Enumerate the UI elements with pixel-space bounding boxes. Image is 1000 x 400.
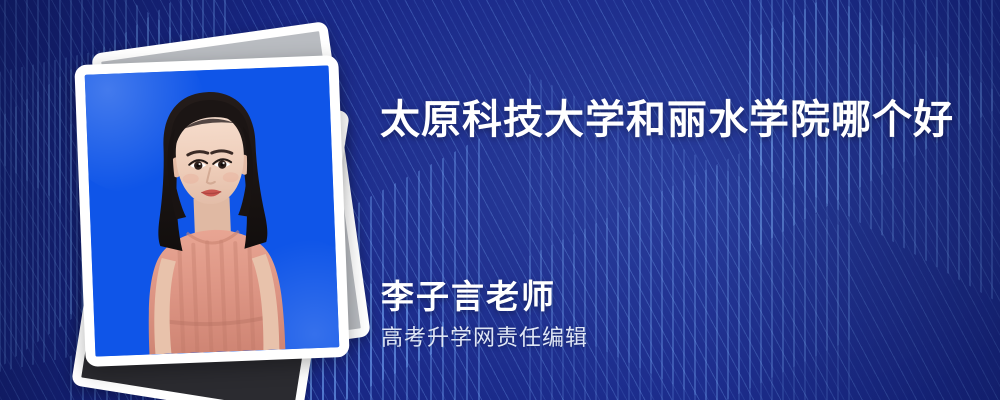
author-role: 高考升学网责任编辑 [381, 320, 588, 352]
headline-title: 太原科技大学和丽水学院哪个好 [380, 96, 980, 144]
portrait-photo [85, 65, 340, 356]
author-name: 李子言老师 [381, 270, 556, 318]
portrait-photo-card [74, 55, 349, 367]
article-cover-banner: 太原科技大学和丽水学院哪个好 李子言老师 高考升学网责任编辑 [0, 0, 1000, 400]
portrait-illustration [85, 65, 340, 356]
photo-card-stack [60, 30, 380, 375]
